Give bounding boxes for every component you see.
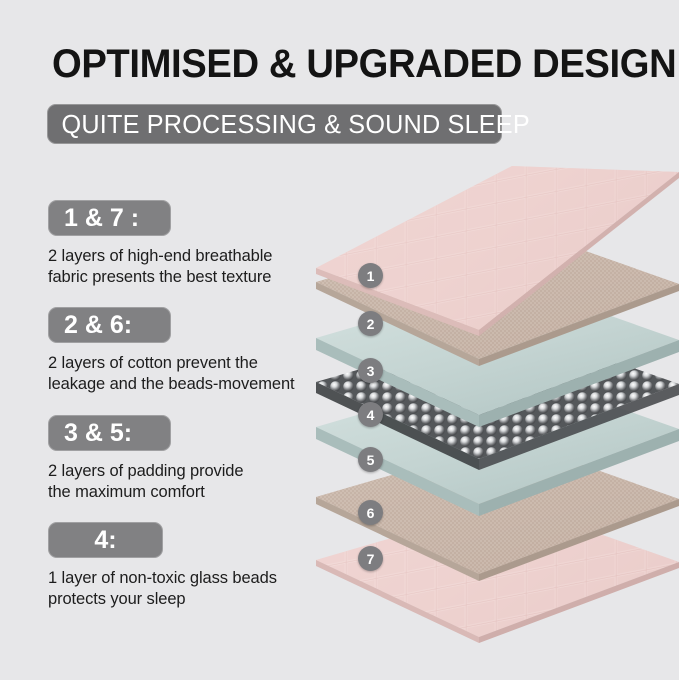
layer-badge-5: 5 bbox=[358, 447, 383, 472]
layer-badge-1: 1 bbox=[358, 263, 383, 288]
label-chip-1-7: 1 & 7 : bbox=[48, 200, 171, 236]
layer-diagram: 1 2 3 4 5 6 7 bbox=[316, 150, 679, 680]
description-3-5: 2 layers of padding provide the maximum … bbox=[48, 461, 328, 503]
info-block-2-6: 2 & 6: 2 layers of cotton prevent the le… bbox=[48, 307, 328, 395]
description-2-6: 2 layers of cotton prevent the leakage a… bbox=[48, 353, 328, 395]
description-1-7: 2 layers of high-end breathable fabric p… bbox=[48, 246, 328, 288]
label-chip-3-5: 3 & 5: bbox=[48, 415, 171, 451]
page-title: OPTIMISED & UPGRADED DESIGN bbox=[52, 42, 625, 86]
layer-badge-7: 7 bbox=[358, 546, 383, 571]
info-block-4: 4: 1 layer of non-toxic glass beads prot… bbox=[48, 522, 328, 610]
info-block-3-5: 3 & 5: 2 layers of padding provide the m… bbox=[48, 415, 328, 503]
layer-badge-4: 4 bbox=[358, 402, 383, 427]
subtitle-text: QUITE PROCESSING & SOUND SLEEP bbox=[47, 109, 530, 140]
infographic-root: OPTIMISED & UPGRADED DESIGN QUITE PROCES… bbox=[0, 0, 679, 679]
info-block-1-7: 1 & 7 : 2 layers of high-end breathable … bbox=[48, 200, 328, 288]
label-chip-2-6: 2 & 6: bbox=[48, 307, 171, 343]
layer-badge-3: 3 bbox=[358, 358, 383, 383]
layer-badge-2: 2 bbox=[358, 311, 383, 336]
description-4: 1 layer of non-toxic glass beads protect… bbox=[48, 568, 328, 610]
layer-badge-6: 6 bbox=[358, 500, 383, 525]
subtitle-chip: QUITE PROCESSING & SOUND SLEEP bbox=[47, 104, 502, 144]
label-chip-4: 4: bbox=[48, 522, 163, 558]
